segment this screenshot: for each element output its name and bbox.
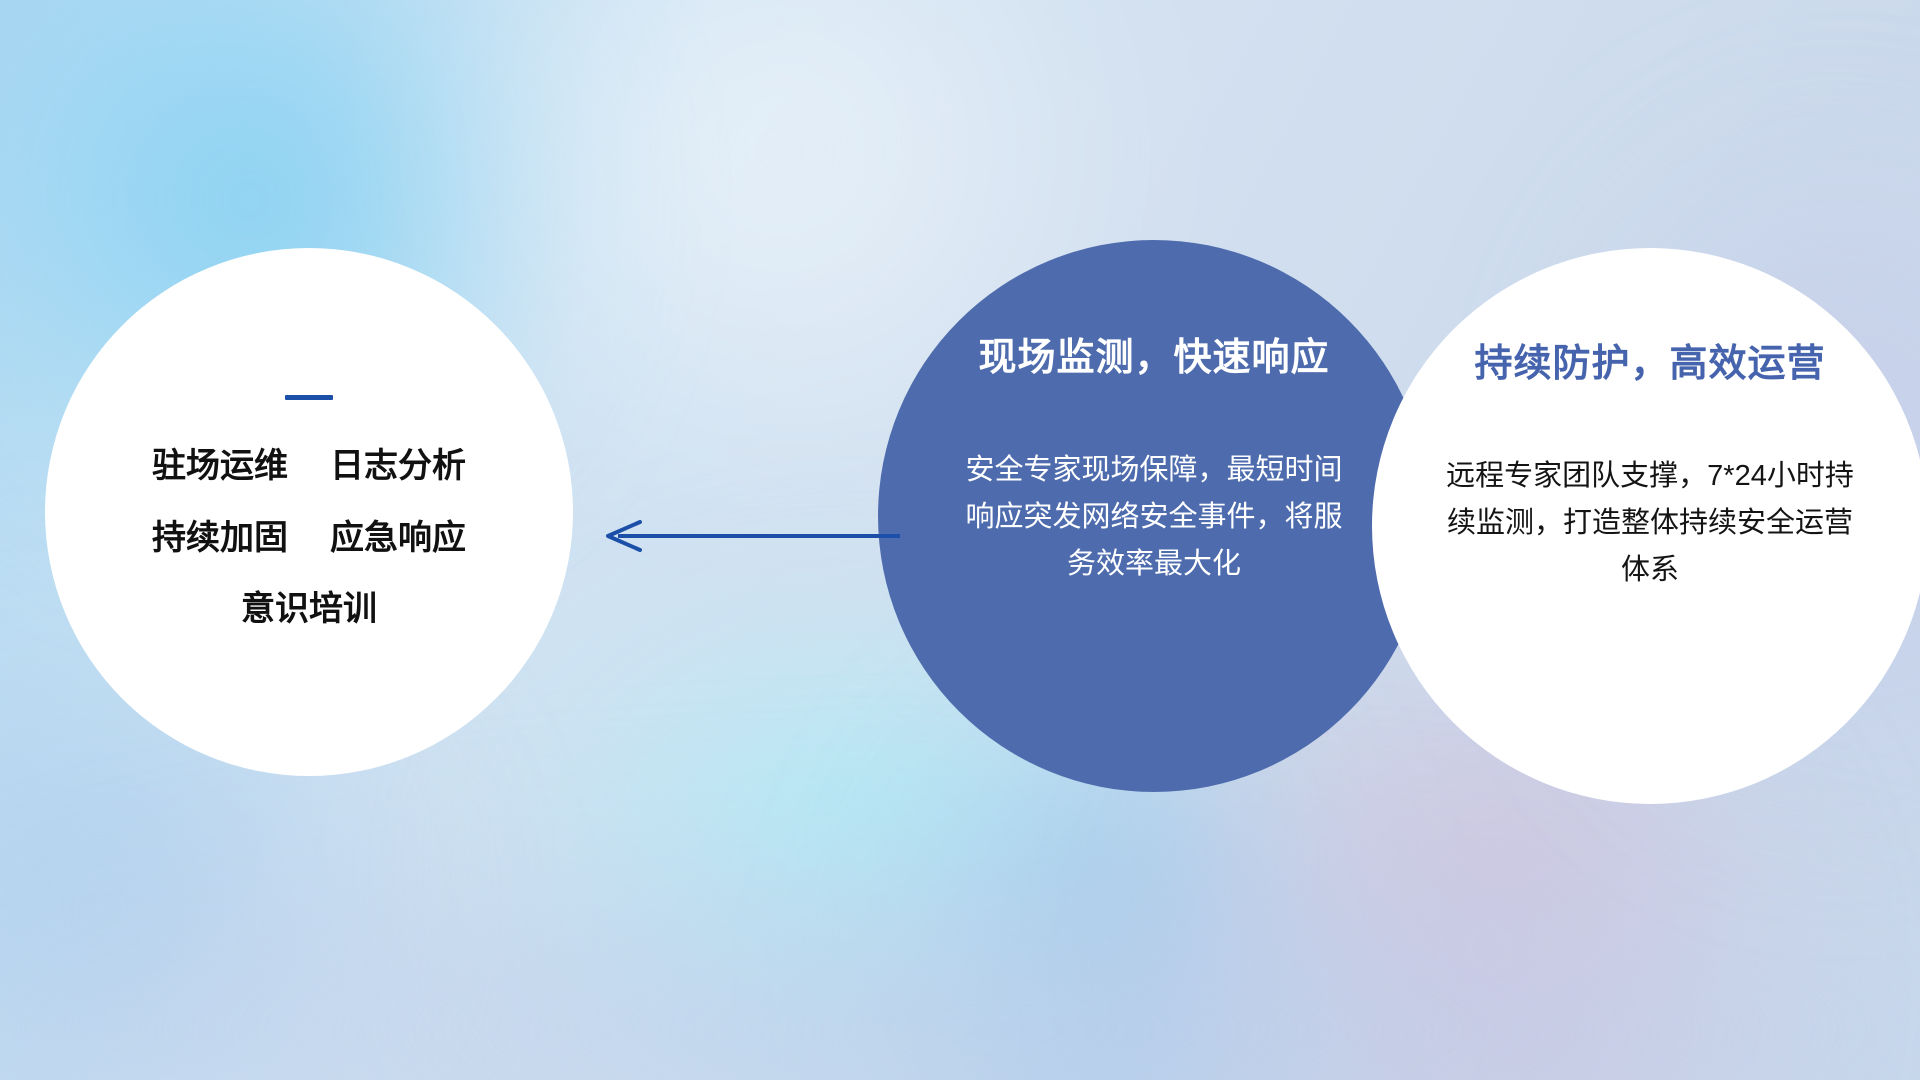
keyword-item: 日志分析 (330, 448, 466, 485)
continuous-protection-title: 持续防护，高效运营 (1474, 332, 1825, 387)
keyword-row: 持续加固 应急响应 (152, 520, 466, 557)
keyword-item: 驻场运维 (152, 448, 288, 485)
continuous-protection-body: 远程专家团队支撑，7*24小时持续监测，打造整体持续安全运营体系 (1435, 453, 1865, 594)
leftward-flow-arrow (600, 516, 900, 556)
diagram-stage: 驻场运维 日志分析 持续加固 应急响应 意识培训 现场监测，快速响应 安全专家现… (0, 0, 1920, 1080)
keyword-item: 持续加固 (152, 520, 288, 557)
capability-keywords-content: 驻场运维 日志分析 持续加固 应急响应 意识培训 (45, 248, 573, 776)
keyword-row: 驻场运维 日志分析 (152, 448, 466, 485)
keyword-item: 意识培训 (241, 591, 377, 628)
continuous-protection-content: 持续防护，高效运营 远程专家团队支撑，7*24小时持续监测，打造整体持续安全运营… (1372, 248, 1920, 804)
keyword-item: 应急响应 (330, 520, 466, 557)
capability-keywords-circle[interactable]: 驻场运维 日志分析 持续加固 应急响应 意识培训 (45, 248, 573, 776)
onsite-monitoring-body: 安全专家现场保障，最短时间响应突发网络安全事件，将服务效率最大化 (964, 447, 1344, 588)
onsite-monitoring-content: 现场监测，快速响应 安全专家现场保障，最短时间响应突发网络安全事件，将服务效率最… (878, 240, 1430, 792)
onsite-monitoring-circle[interactable]: 现场监测，快速响应 安全专家现场保障，最短时间响应突发网络安全事件，将服务效率最… (878, 240, 1430, 792)
continuous-protection-circle[interactable]: 持续防护，高效运营 远程专家团队支撑，7*24小时持续监测，打造整体持续安全运营… (1372, 248, 1920, 804)
accent-divider-dash (285, 395, 333, 400)
keyword-row: 意识培训 (241, 591, 377, 628)
onsite-monitoring-title: 现场监测，快速响应 (978, 326, 1329, 381)
